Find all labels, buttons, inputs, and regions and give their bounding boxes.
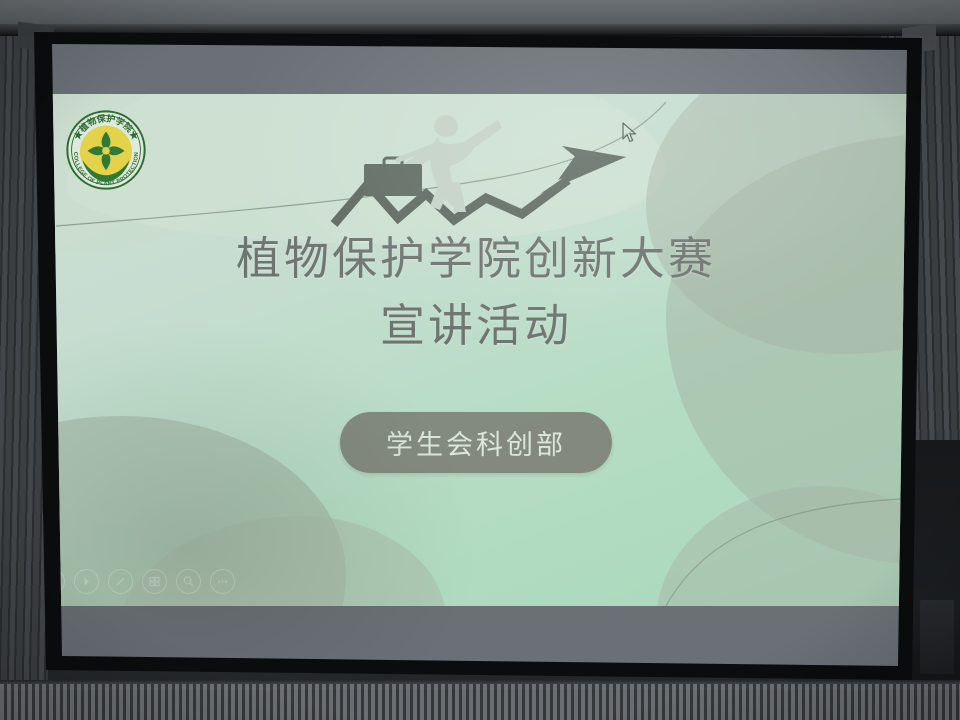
pen-tool-button[interactable] xyxy=(108,569,133,594)
floor-strip xyxy=(0,684,960,720)
mouse-pointer-icon xyxy=(621,122,639,144)
growth-arrow-illustration xyxy=(326,102,656,237)
pen-icon xyxy=(114,575,127,588)
presentation-slide-area: ★植物保护学院★ COLLEGE OF PLANT PROTECTION xyxy=(26,94,926,606)
next-slide-icon xyxy=(81,576,92,587)
slide-title-block: 植物保护学院创新大赛 宣讲活动 xyxy=(26,226,926,359)
zoom-icon xyxy=(182,575,195,588)
slide-subtitle-pill: 学生会科创部 xyxy=(340,412,612,473)
more-options-icon xyxy=(216,575,229,588)
presentation-toolbar[interactable] xyxy=(40,569,235,594)
slide-title-line1: 植物保护学院创新大赛 xyxy=(26,226,926,293)
decor-blob-bottom-right xyxy=(656,486,926,606)
photo-scene: ★植物保护学院★ COLLEGE OF PLANT PROTECTION xyxy=(0,0,960,720)
slide-title-line2: 宣讲活动 xyxy=(26,293,926,360)
more-options-button[interactable] xyxy=(210,569,235,594)
slide-canvas: ★植物保护学院★ COLLEGE OF PLANT PROTECTION xyxy=(26,94,926,606)
projection-screen-surface: ★植物保护学院★ COLLEGE OF PLANT PROTECTION xyxy=(26,28,926,688)
next-slide-button[interactable] xyxy=(74,569,99,594)
zoom-button[interactable] xyxy=(176,569,201,594)
slide-grid-icon xyxy=(148,575,161,588)
college-logo-icon: ★植物保护学院★ COLLEGE OF PLANT PROTECTION xyxy=(64,108,148,192)
all-slides-button[interactable] xyxy=(142,569,167,594)
right-wall-fixture xyxy=(920,600,954,674)
